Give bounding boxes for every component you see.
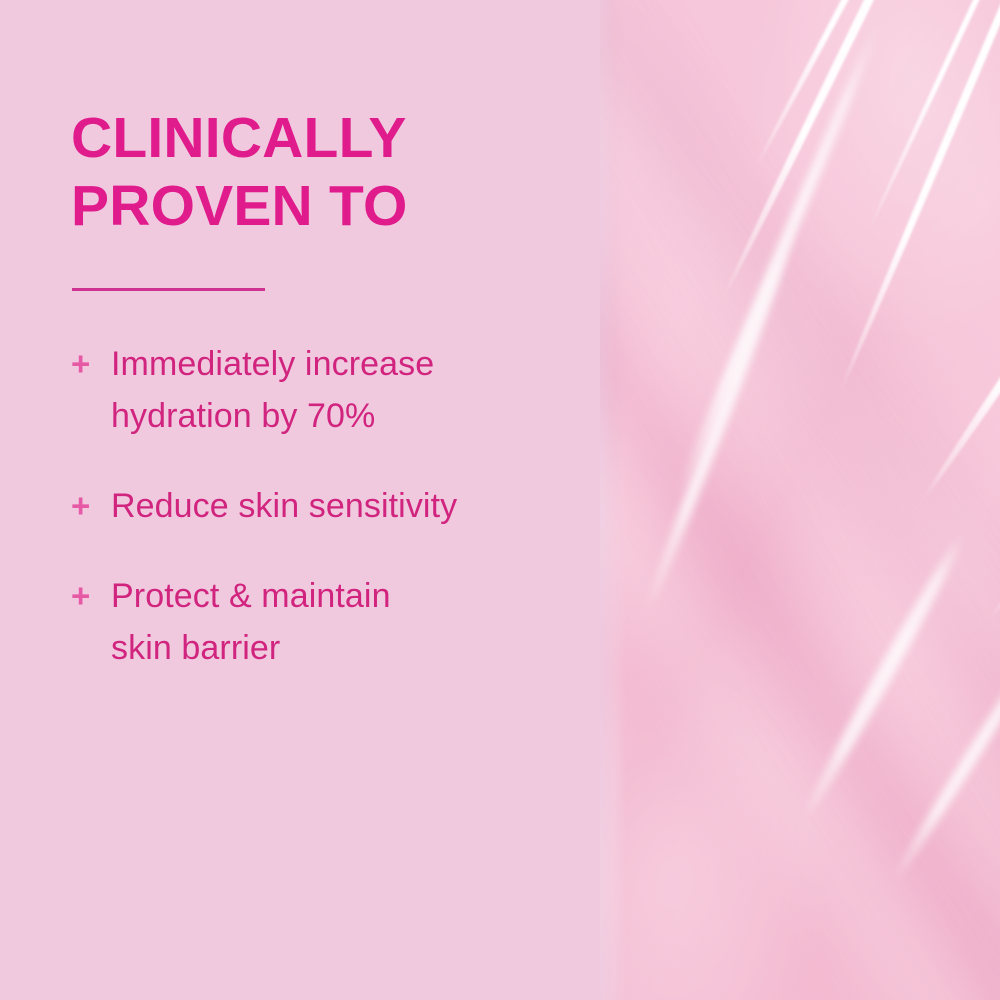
list-item: + Immediately increase hydration by 70% bbox=[71, 338, 571, 442]
list-item: + Reduce skin sensitivity bbox=[71, 480, 571, 532]
benefit-line: Protect & maintain bbox=[111, 570, 571, 622]
benefit-line: Immediately increase bbox=[111, 338, 571, 390]
plus-icon: + bbox=[71, 480, 111, 532]
benefit-line: hydration by 70% bbox=[111, 390, 571, 442]
list-item: + Protect & maintain skin barrier bbox=[71, 570, 571, 674]
benefit-line: skin barrier bbox=[111, 622, 571, 674]
benefits-list: + Immediately increase hydration by 70% … bbox=[71, 338, 571, 674]
plus-icon: + bbox=[71, 338, 111, 390]
headline-line-2: PROVEN TO bbox=[71, 172, 561, 240]
divider-rule bbox=[72, 288, 265, 291]
product-texture-image bbox=[600, 0, 1000, 1000]
benefit-text: Reduce skin sensitivity bbox=[111, 480, 571, 532]
copy-panel: CLINICALLY PROVEN TO + Immediately incre… bbox=[0, 0, 600, 1000]
headline-line-1: CLINICALLY bbox=[71, 104, 561, 172]
page-title: CLINICALLY PROVEN TO bbox=[71, 104, 561, 240]
benefit-line: Reduce skin sensitivity bbox=[111, 480, 571, 532]
promo-banner: CLINICALLY PROVEN TO + Immediately incre… bbox=[0, 0, 1000, 1000]
benefit-text: Immediately increase hydration by 70% bbox=[111, 338, 571, 442]
benefit-text: Protect & maintain skin barrier bbox=[111, 570, 571, 674]
plus-icon: + bbox=[71, 570, 111, 622]
